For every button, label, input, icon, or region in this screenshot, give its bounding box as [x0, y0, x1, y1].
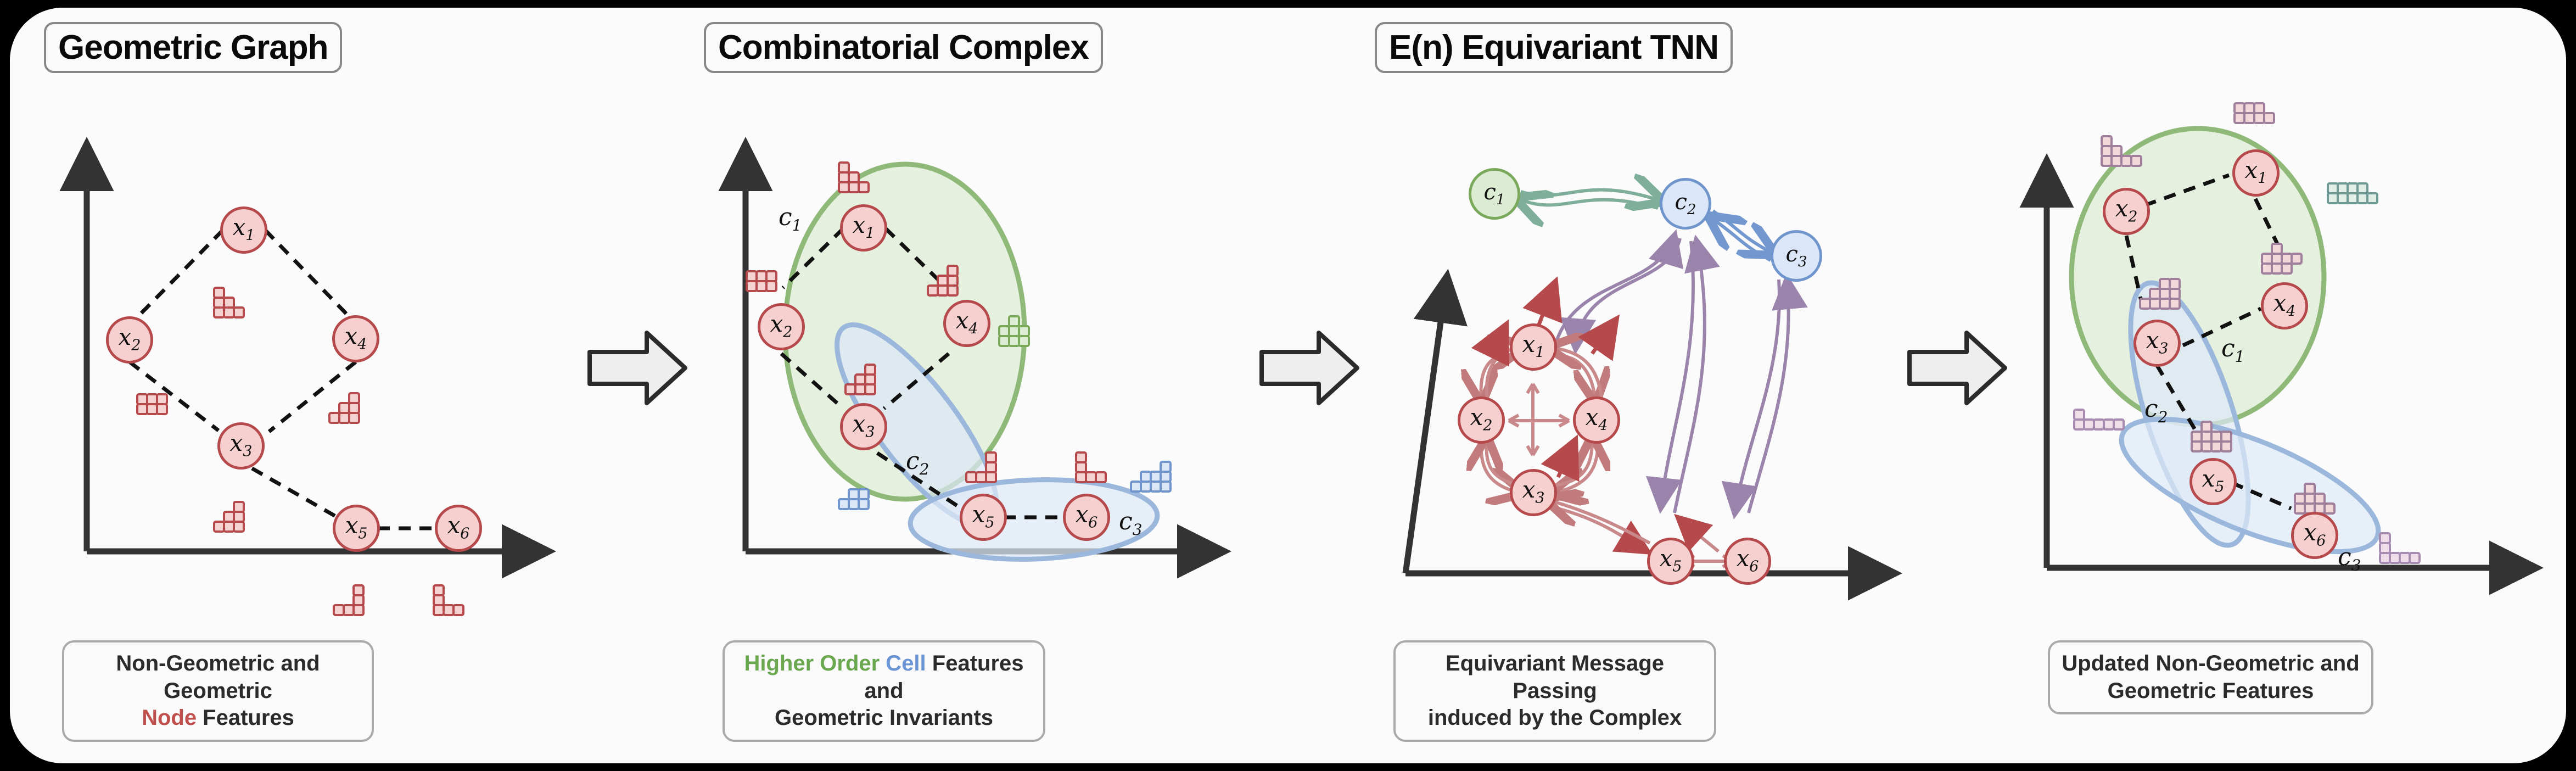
panel-title-geometric-graph: Geometric Graph	[44, 22, 342, 73]
combinatorial-complex-plot: x1 x2 x4 x3 x5 x6 c1 c2 c3	[691, 134, 1278, 628]
panel-combinatorial-complex: Combinatorial Complex	[691, 8, 1278, 763]
node-label-x4: x	[345, 322, 358, 349]
node-sub-x4: 4	[357, 336, 367, 353]
node-x2[interactable]: x2	[106, 316, 153, 364]
node-x4[interactable]: x4	[332, 315, 379, 362]
cell-label-c1: c1	[2221, 334, 2244, 366]
cell-to-cell-messages	[1521, 190, 1771, 260]
caption-line-1: Updated Non-Geometric and	[2061, 650, 2360, 678]
cell-label-c3: c3	[1119, 507, 1142, 539]
graph-edges	[130, 230, 438, 528]
node-x5[interactable]: x5	[2189, 458, 2237, 505]
node-x3[interactable]: x3	[1510, 469, 1557, 516]
panel-title-equivariant-tnn: E(n) Equivariant TNN	[1375, 22, 1733, 73]
node-label-x5: x	[345, 512, 359, 539]
caption-line-2: Geometric Invariants	[736, 705, 1032, 732]
panel-equivariant-tnn: E(n) Equivariant TNN	[1362, 8, 1955, 763]
panel-geometric-graph: Geometric Graph	[32, 8, 581, 763]
updated-svg	[2019, 118, 2568, 634]
cell-node-c2[interactable]: c2	[1660, 178, 1711, 230]
flow-arrow-2	[1257, 327, 1362, 410]
cell-label-c1: c1	[779, 203, 802, 234]
node-x2[interactable]: x2	[2103, 188, 2150, 235]
node-sub-x1: 1	[245, 227, 255, 244]
node-label-x3: x	[230, 429, 243, 456]
node-to-node-messages	[1481, 347, 1733, 567]
node-sub-x6: 6	[460, 526, 469, 543]
node-x1[interactable]: x1	[220, 206, 267, 254]
caption-line-1: Equivariant Message Passing	[1407, 650, 1703, 705]
figure-card: Geometric Graph	[10, 8, 2566, 763]
node-sub-x3: 3	[243, 443, 252, 460]
node-x5[interactable]: x5	[960, 494, 1007, 541]
panel-title-combinatorial-complex: Combinatorial Complex	[704, 22, 1103, 73]
cell-node-c3[interactable]: c3	[1771, 230, 1822, 282]
cell-label-c2: c2	[2144, 395, 2168, 426]
node-label-x2: x	[119, 323, 132, 350]
geometric-graph-plot: x1 x2 x4 x3 x5 x6	[32, 134, 581, 628]
node-x5[interactable]: x5	[1647, 538, 1694, 585]
node-x2[interactable]: x2	[758, 303, 805, 350]
node-x3[interactable]: x3	[2133, 320, 2181, 367]
panel-caption-combinatorial-complex: Higher Order Cell Features and Geometric…	[723, 640, 1045, 742]
node-x1[interactable]: x1	[2232, 149, 2280, 197]
caption-line-2: induced by the Complex	[1407, 705, 1703, 732]
node-x2[interactable]: x2	[1458, 396, 1505, 444]
node-x6[interactable]: x6	[435, 505, 482, 552]
node-sub-x2: 2	[131, 337, 141, 354]
node-x5[interactable]: x5	[333, 505, 380, 552]
panel-caption-geometric-graph: Non-Geometric and Geometric Node Feature…	[62, 640, 374, 742]
node-x6[interactable]: x6	[1063, 494, 1110, 541]
node-x6[interactable]: x6	[1724, 538, 1771, 585]
flow-arrow-3	[1905, 327, 2009, 410]
node-x4[interactable]: x4	[2261, 282, 2308, 329]
node-x6[interactable]: x6	[2291, 512, 2338, 559]
node-x3[interactable]: x3	[217, 422, 265, 470]
node-x4[interactable]: x4	[943, 300, 990, 347]
panel-updated-features: x2 x1 x4 x3 x5 x6 c1 c2 c3 Updated Non-G…	[2019, 8, 2568, 763]
node-label-x1: x	[233, 214, 246, 241]
node-x1[interactable]: x1	[1510, 323, 1557, 371]
panel-caption-equivariant-tnn: Equivariant Message Passing induced by t…	[1393, 640, 1716, 742]
cell-label-c3: c3	[2338, 543, 2361, 574]
node-x1[interactable]: x1	[840, 204, 887, 252]
node-x4[interactable]: x4	[1573, 396, 1620, 444]
panel-caption-updated-features: Updated Non-Geometric and Geometric Feat…	[2048, 640, 2373, 714]
flow-arrow-1	[585, 327, 690, 410]
caption-line-1: Non-Geometric and Geometric	[75, 650, 361, 705]
message-passing-plot: c1 c2 c3 x1 x2 x4 x3 x5 x6	[1362, 134, 1955, 628]
graph-svg	[32, 134, 581, 628]
caption-line-1: Higher Order Cell Features and	[736, 650, 1032, 705]
caption-line-2: Geometric Features	[2061, 678, 2360, 705]
caption-line-2: Node Features	[75, 705, 361, 732]
cell-node-c1[interactable]: c1	[1469, 168, 1520, 220]
node-sub-x5: 5	[358, 526, 367, 543]
y-axis	[1405, 299, 1444, 573]
updated-complex-plot: x2 x1 x4 x3 x5 x6 c1 c2 c3	[2019, 118, 2568, 634]
cell-label-c2: c2	[906, 447, 929, 478]
node-x3[interactable]: x3	[840, 403, 887, 450]
node-label-x6: x	[447, 512, 461, 539]
